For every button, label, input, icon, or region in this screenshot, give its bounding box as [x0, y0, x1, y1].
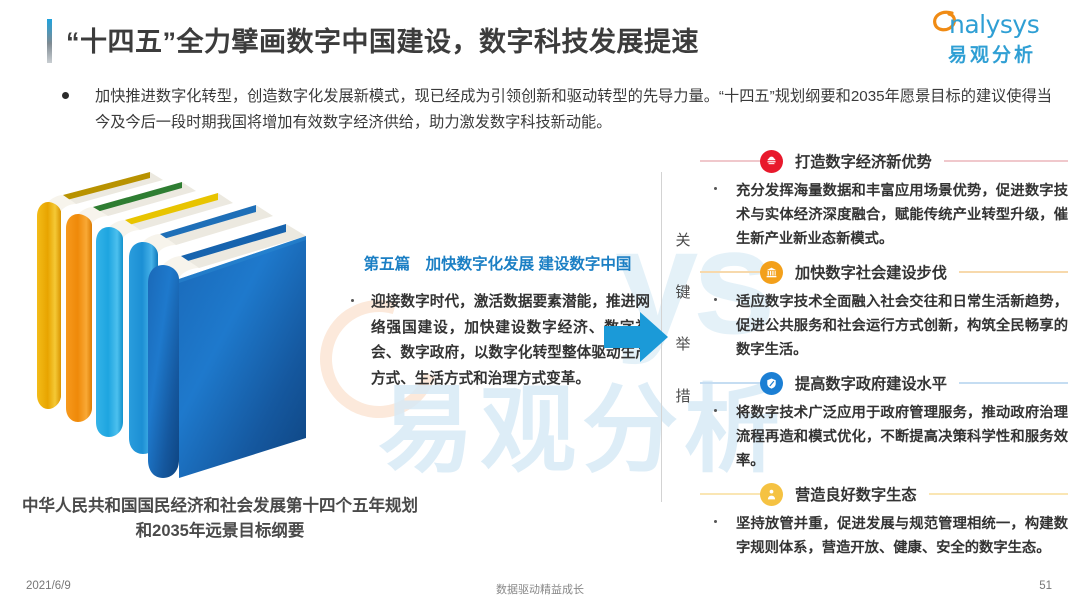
- card-header: 提高数字政府建设水平: [700, 370, 1068, 396]
- digital-economy-icon: [760, 150, 783, 173]
- bullet-dot-icon: [714, 409, 717, 412]
- lead-paragraph-text: 加快推进数字化转型，创造数字化发展新模式，现已经成为引领创新和驱动转型的先导力量…: [95, 84, 1052, 136]
- person-eco-icon: [760, 483, 783, 506]
- card-title: 提高数字政府建设水平: [783, 372, 959, 394]
- footer-tagline: 数据驱动精益成长: [0, 581, 1080, 597]
- card-digital-ecosystem: 营造良好数字生态 坚持放管并重，促进发展与规范管理相统一，构建数字规则体系，营造…: [700, 481, 1068, 560]
- vlabel-char-1: 键: [672, 267, 694, 319]
- card-rule-right: [959, 382, 1068, 384]
- vlabel-char-2: 举: [672, 319, 694, 371]
- bullet-dot-icon: [714, 298, 717, 301]
- vlabel-char-3: 措: [672, 371, 694, 423]
- card-body: 适应数字技术全面融入社会交往和日常生活新趋势，促进公共服务和社会运行方式创新，构…: [700, 285, 1068, 362]
- card-header: 营造良好数字生态: [700, 481, 1068, 507]
- book-5: [148, 224, 306, 478]
- vlabel-char-0: 关: [672, 215, 694, 267]
- shield-icon: [760, 372, 783, 395]
- books-illustration: [30, 160, 330, 490]
- books-caption: 中华人民共和国国民经济和社会发展第十四个五年规划和2035年远景目标纲要: [20, 494, 420, 544]
- bullet-dot-icon: [714, 520, 717, 523]
- card-text: 适应数字技术全面融入社会交往和日常生活新趋势，促进公共服务和社会运行方式创新，构…: [736, 290, 1068, 362]
- page-title: “十四五”全力擘画数字中国建设，数字科技发展提速: [66, 20, 699, 59]
- analysys-logo: nalysys 易观分析: [932, 8, 1054, 66]
- slide-footer: 2021/6/9 数据驱动精益成长 51: [0, 570, 1080, 608]
- book-stack-icon: [30, 160, 330, 490]
- card-digital-economy: 打造数字经济新优势 充分发挥海量数据和丰富应用场景优势，促进数字技术与实体经济深…: [700, 148, 1068, 251]
- logo-chinese-name: 易观分析: [948, 40, 1036, 67]
- bullet-dot-icon: [714, 187, 717, 190]
- card-digital-government: 提高数字政府建设水平 将数字技术广泛应用于政府管理服务，推动政府治理流程再造和模…: [700, 370, 1068, 473]
- card-title: 打造数字经济新优势: [783, 150, 944, 172]
- bullet-dot-icon: [62, 92, 69, 99]
- bank-building-icon: [760, 261, 783, 284]
- bullet-dot-icon: [351, 299, 354, 302]
- card-header: 加快数字社会建设步伐: [700, 259, 1068, 285]
- card-rule-left: [700, 271, 760, 273]
- card-title: 加快数字社会建设步伐: [783, 261, 959, 283]
- card-body: 充分发挥海量数据和丰富应用场景优势，促进数字技术与实体经济深度融合，赋能传统产业…: [700, 174, 1068, 251]
- card-text: 坚持放管并重，促进发展与规范管理相统一，构建数字规则体系，营造开放、健康、安全的…: [736, 512, 1068, 560]
- card-rule-left: [700, 382, 760, 384]
- card-rule-left: [700, 493, 760, 495]
- card-digital-society: 加快数字社会建设步伐 适应数字技术全面融入社会交往和日常生活新趋势，促进公共服务…: [700, 259, 1068, 362]
- slide-root: 易观分析 ys “十四五”全力擘画数字中国建设，数字科技发展提速 nalysys…: [0, 0, 1080, 608]
- card-body: 将数字技术广泛应用于政府管理服务，推动政府治理流程再造和模式优化，不断提高决策科…: [700, 396, 1068, 473]
- key-measures-cards: 打造数字经济新优势 充分发挥海量数据和丰富应用场景优势，促进数字技术与实体经济深…: [700, 148, 1068, 568]
- card-rule-right: [959, 271, 1068, 273]
- lead-paragraph: 加快推进数字化转型，创造数字化发展新模式，现已经成为引领创新和驱动转型的先导力量…: [62, 84, 1052, 136]
- middle-heading: 第五篇 加快数字化发展 建设数字中国: [345, 252, 650, 274]
- card-body: 坚持放管并重，促进发展与规范管理相统一，构建数字规则体系，营造开放、健康、安全的…: [700, 507, 1068, 560]
- card-text: 将数字技术广泛应用于政府管理服务，推动政府治理流程再造和模式优化，不断提高决策科…: [736, 401, 1068, 473]
- card-text: 充分发挥海量数据和丰富应用场景优势，促进数字技术与实体经济深度融合，赋能传统产业…: [736, 179, 1068, 251]
- title-accent-bar: [47, 19, 52, 63]
- card-rule-right: [944, 160, 1068, 162]
- flow-arrow-right-icon: [604, 310, 670, 369]
- slide-header: “十四五”全力擘画数字中国建设，数字科技发展提速 nalysys 易观分析: [0, 0, 1080, 74]
- key-measures-vertical-label: 关 键 举 措: [672, 215, 694, 423]
- logo-wordmark: nalysys: [949, 10, 1039, 39]
- footer-page-number: 51: [1039, 580, 1052, 592]
- card-rule-right: [929, 493, 1069, 495]
- card-title: 营造良好数字生态: [783, 483, 929, 505]
- card-header: 打造数字经济新优势: [700, 148, 1068, 174]
- card-rule-left: [700, 160, 760, 162]
